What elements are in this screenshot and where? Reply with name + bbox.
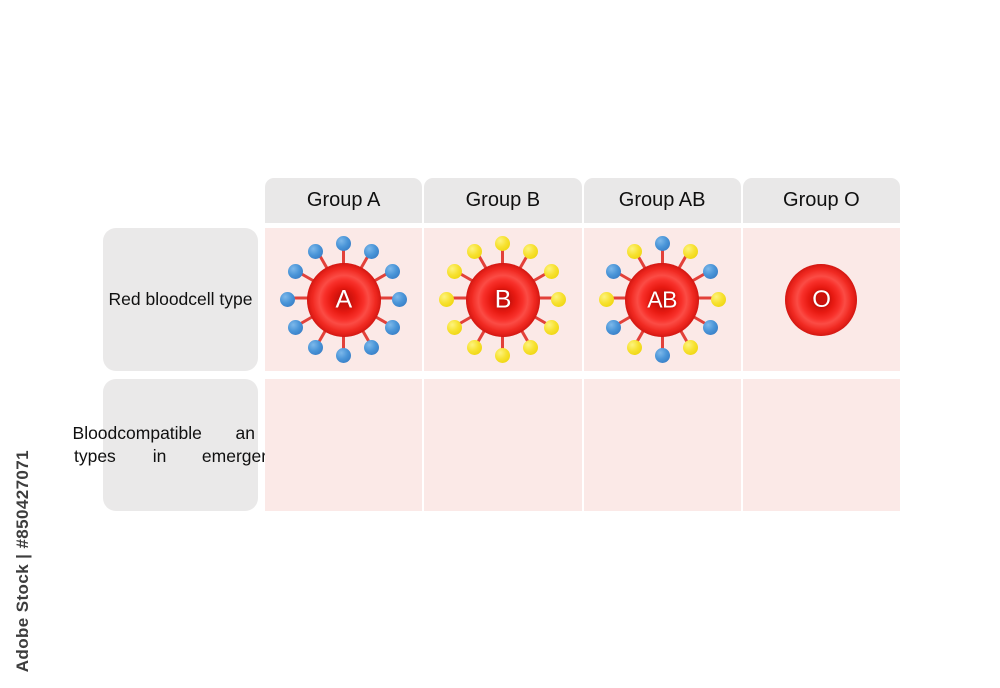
antigen-knob-blue [655, 236, 670, 251]
blood-type-label: B [495, 287, 511, 312]
column-header-label: Group AB [619, 189, 706, 212]
table-row-blood-types-compatible: Blood typescompatible inan emergency [103, 379, 900, 511]
blood-type-label: AB [647, 288, 677, 311]
row-cells [265, 379, 900, 511]
antigen-knob-blue [606, 264, 621, 279]
column-header-group-ab: Group AB [584, 178, 741, 223]
antigen-knob-blue [703, 264, 718, 279]
antigen-knob-yellow [683, 340, 698, 355]
antigen-knob-blue [288, 264, 303, 279]
antigen-knob-blue [364, 340, 379, 355]
column-header-label: Group O [783, 189, 860, 212]
antigen-knob-yellow [447, 320, 462, 335]
blood-type-compatibility-table: Group A Group B Group AB Group O Red blo… [103, 178, 900, 511]
blood-cell-figure-a: A [279, 235, 409, 365]
antigen-knob-yellow [467, 340, 482, 355]
antigen-knob-blue [655, 348, 670, 363]
blood-type-label: A [336, 287, 352, 312]
cell-group-ab-compatible [584, 379, 741, 511]
antigen-knob-yellow [683, 244, 698, 259]
antigen-knob-yellow [711, 292, 726, 307]
cell-group-a-compatible [265, 379, 422, 511]
antigen-knob-blue [336, 348, 351, 363]
antigen-knob-yellow [495, 348, 510, 363]
antigen-knob-blue [606, 320, 621, 335]
antigen-knob-blue [308, 244, 323, 259]
column-header-group-b: Group B [424, 178, 581, 223]
antigen-knob-blue [280, 292, 295, 307]
row-label-blood-types-compatible: Blood typescompatible inan emergency [103, 379, 258, 511]
blood-cell-figure-ab: AB [597, 235, 727, 365]
antigen-knob-blue [385, 264, 400, 279]
antigen-knob-blue [288, 320, 303, 335]
antigen-knob-yellow [551, 292, 566, 307]
antigen-knob-yellow [523, 340, 538, 355]
column-header-group-o: Group O [743, 178, 900, 223]
antigen-knob-blue [392, 292, 407, 307]
cell-group-o-red-blood-cell-type: O [743, 228, 900, 371]
adobe-stock-watermark: Adobe Stock | #850427071 [13, 450, 33, 672]
antigen-knob-yellow [599, 292, 614, 307]
antigen-knob-blue [364, 244, 379, 259]
antigen-knob-yellow [523, 244, 538, 259]
table-row-red-blood-cell-type: Red bloodcell type A B [103, 228, 900, 371]
column-header-label: Group B [466, 189, 540, 212]
antigen-knob-yellow [447, 264, 462, 279]
cell-group-b-red-blood-cell-type: B [424, 228, 581, 371]
antigen-knob-yellow [544, 320, 559, 335]
cell-group-o-compatible [743, 379, 900, 511]
table-header-row: Group A Group B Group AB Group O [265, 178, 900, 223]
row-cells: A B AB [265, 228, 900, 371]
cell-group-b-compatible [424, 379, 581, 511]
antigen-knob-blue [336, 236, 351, 251]
cell-group-ab-red-blood-cell-type: AB [584, 228, 741, 371]
row-label-red-blood-cell-type: Red bloodcell type [103, 228, 258, 371]
column-header-group-a: Group A [265, 178, 422, 223]
blood-cell-figure-o: O [775, 254, 867, 346]
antigen-knob-yellow [467, 244, 482, 259]
cell-group-a-red-blood-cell-type: A [265, 228, 422, 371]
antigen-knob-yellow [495, 236, 510, 251]
blood-type-label: O [812, 288, 830, 312]
antigen-knob-blue [385, 320, 400, 335]
antigen-knob-yellow [627, 340, 642, 355]
antigen-knob-yellow [627, 244, 642, 259]
column-header-label: Group A [307, 189, 380, 212]
blood-cell-figure-b: B [438, 235, 568, 365]
antigen-knob-yellow [439, 292, 454, 307]
antigen-knob-yellow [544, 264, 559, 279]
antigen-knob-blue [703, 320, 718, 335]
antigen-knob-blue [308, 340, 323, 355]
